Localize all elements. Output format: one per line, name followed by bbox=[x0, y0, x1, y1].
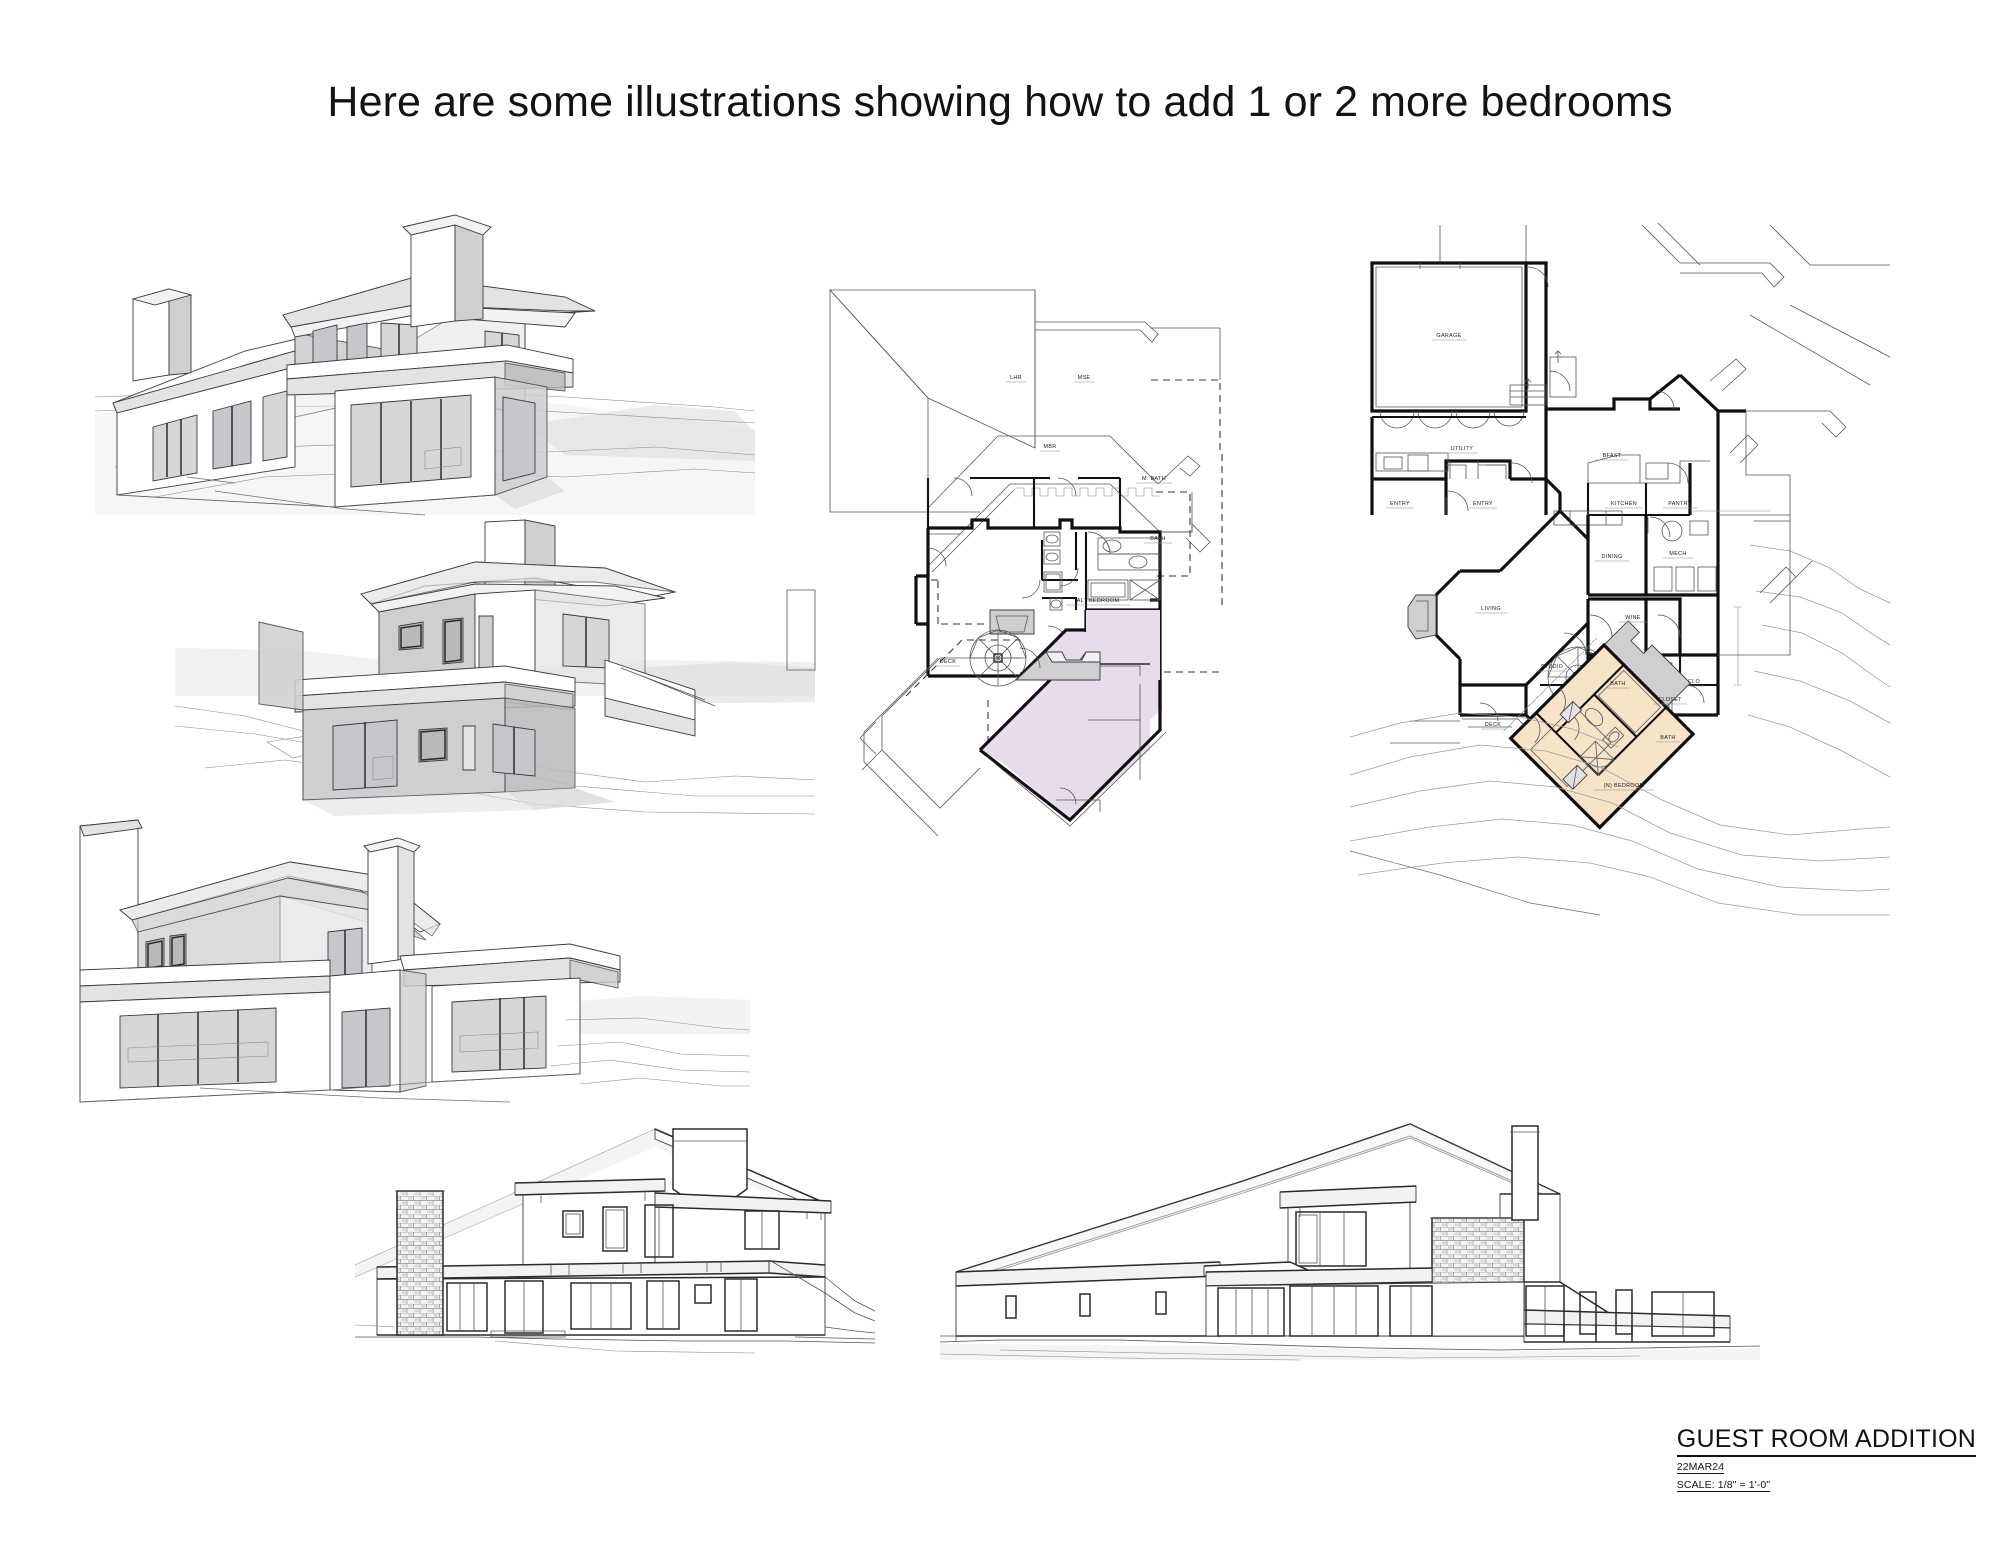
room-label-closet: CLOSET bbox=[1658, 697, 1682, 703]
room-label-m-bath: M. BATH bbox=[1142, 476, 1166, 482]
room-label-mse: MSE bbox=[1078, 375, 1091, 381]
room-label-utility: UTILITY bbox=[1451, 446, 1474, 452]
room-label-garage: GARAGE bbox=[1436, 333, 1461, 339]
presentation-sheet: Here are some illustrations showing how … bbox=[0, 0, 2000, 1545]
room-label-clo: CLO bbox=[1688, 679, 1700, 685]
exterior-perspective-lower-view bbox=[80, 820, 750, 1110]
drawing-scale: SCALE: 1/8" = 1'-0" bbox=[1677, 1479, 1770, 1492]
project-date: 22MAR24 bbox=[1677, 1461, 1724, 1474]
room-label-lhr: LHR bbox=[1010, 375, 1022, 381]
page-title: Here are some illustrations showing how … bbox=[0, 78, 2000, 127]
building-elevation-left bbox=[355, 1115, 875, 1355]
room-label-bfast: BFAST bbox=[1603, 453, 1622, 459]
room-label-pantry: PANTRY bbox=[1668, 501, 1692, 507]
exterior-perspective-shaded-view bbox=[175, 520, 815, 820]
alternate-bedroom-floor-plan: LHR MSE MBR M. BATH BATH ALT BEDROOM DEC… bbox=[820, 280, 1300, 860]
room-label-mech: MECH bbox=[1669, 551, 1686, 557]
room-label-entry-1: ENTRY bbox=[1390, 501, 1410, 507]
room-label-bath-lower: BATH bbox=[1610, 681, 1625, 687]
title-block: GUEST ROOM ADDITION 22MAR24 SCALE: 1/8" … bbox=[1677, 1425, 1976, 1493]
room-label-deck-right: DECK bbox=[1485, 722, 1501, 728]
building-elevation-right bbox=[940, 1110, 1760, 1360]
exterior-perspective-upper-view bbox=[95, 215, 755, 515]
room-label-bath-suite: BATH bbox=[1660, 735, 1675, 741]
room-label-studio: STUDIO bbox=[1541, 664, 1563, 670]
room-label-bath: BATH bbox=[1150, 536, 1165, 542]
new-guest-bedroom-floor-plan: GARAGE UTILITY BFAST ENTRY ENTRY KITCHEN… bbox=[1350, 215, 1890, 915]
project-name: GUEST ROOM ADDITION bbox=[1677, 1425, 1976, 1457]
room-label-mbr: MBR bbox=[1043, 444, 1056, 450]
room-label-entry-2: ENTRY bbox=[1473, 501, 1493, 507]
room-label-living: LIVING bbox=[1481, 606, 1501, 612]
room-label-new-bedroom: (N) BEDROOM bbox=[1604, 783, 1645, 789]
room-label-alt-bedroom: ALT BEDROOM bbox=[1077, 598, 1120, 604]
room-label-dining: DINING bbox=[1602, 554, 1623, 560]
room-label-wine: WINE bbox=[1625, 615, 1641, 621]
room-label-kitchen: KITCHEN bbox=[1611, 501, 1637, 507]
room-label-deck: DECK bbox=[940, 659, 956, 665]
